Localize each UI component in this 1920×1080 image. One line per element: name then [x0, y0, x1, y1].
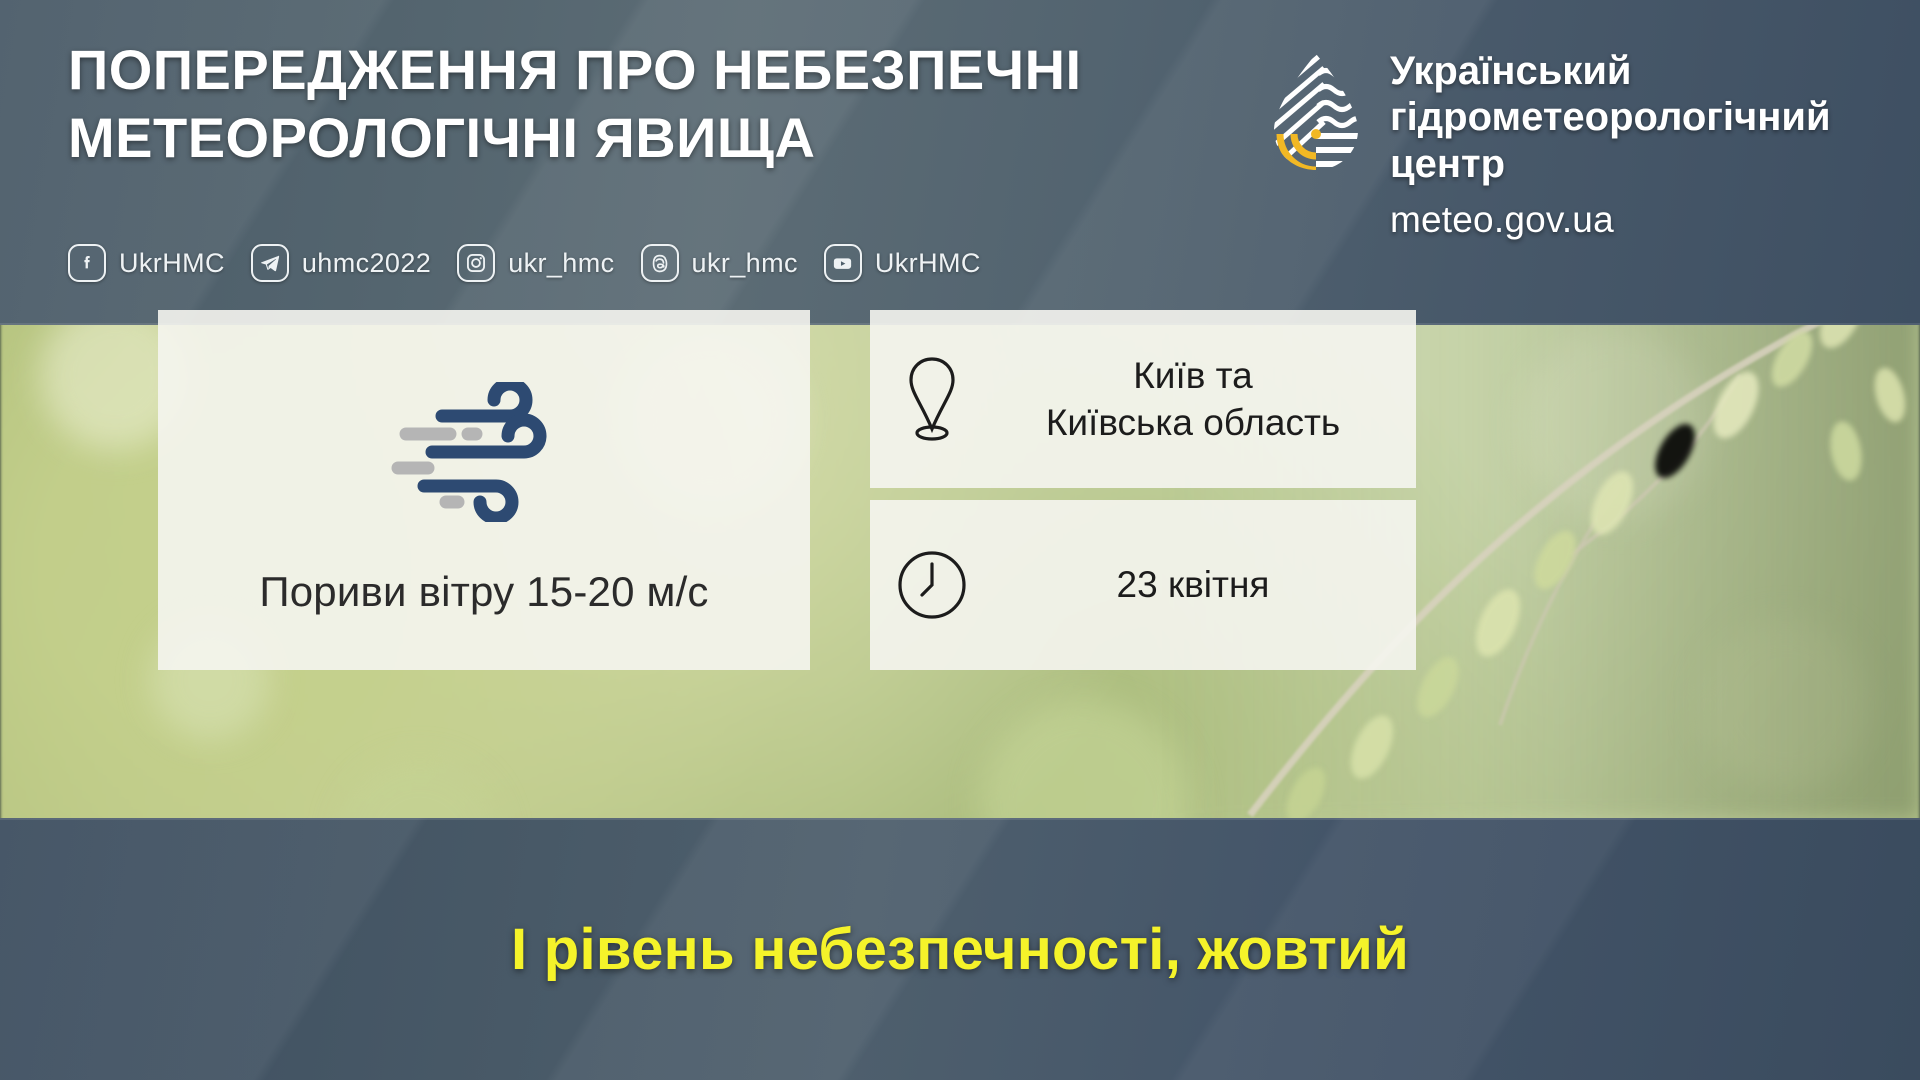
social-link-threads[interactable]: ukr_hmc — [641, 244, 798, 282]
org-name-line1: Український — [1390, 48, 1831, 94]
date-label: 23 квітня — [980, 561, 1416, 608]
youtube-icon — [824, 244, 862, 282]
phenomenon-label: Пориви вітру 15-20 м/с — [259, 568, 708, 616]
organization-logo-block: Український гідрометеорологічний центр m… — [1268, 48, 1831, 241]
footer-bar: I рівень небезпечності, жовтий — [0, 818, 1920, 1080]
facebook-icon — [68, 244, 106, 282]
telegram-icon — [251, 244, 289, 282]
danger-level-label: I рівень небезпечності, жовтий — [511, 916, 1409, 983]
page-title-line1: ПОПЕРЕДЖЕННЯ ПРО НЕБЕЗПЕЧНІ — [68, 36, 1082, 104]
social-handle-youtube: UkrHMC — [875, 248, 981, 279]
org-website-url[interactable]: meteo.gov.ua — [1390, 199, 1831, 241]
region-line1: Київ та — [1133, 355, 1253, 396]
region-card: Київ та Київська область — [870, 310, 1416, 488]
social-handle-telegram: uhmc2022 — [302, 248, 431, 279]
region-line2: Київська область — [1046, 402, 1340, 443]
social-handle-instagram: ukr_hmc — [508, 248, 614, 279]
social-link-instagram[interactable]: ukr_hmc — [457, 244, 614, 282]
wind-icon — [384, 382, 584, 522]
threads-icon — [641, 244, 679, 282]
page-title-line2: МЕТЕОРОЛОГІЧНІ ЯВИЩА — [68, 104, 1082, 172]
org-name-line2: гідрометеорологічний — [1390, 94, 1831, 140]
social-link-facebook[interactable]: UkrHMC — [68, 244, 225, 282]
organization-name-block: Український гідрометеорологічний центр m… — [1390, 48, 1831, 241]
uhmc-droplet-logo-icon — [1268, 52, 1364, 172]
weather-warning-poster: ПОПЕРЕДЖЕННЯ ПРО НЕБЕЗПЕЧНІ МЕТЕОРОЛОГІЧ… — [0, 0, 1920, 1080]
date-card: 23 квітня — [870, 500, 1416, 670]
social-handle-threads: ukr_hmc — [692, 248, 798, 279]
instagram-icon — [457, 244, 495, 282]
social-links: UkrHMC uhmc2022 ukr_hm — [68, 244, 1007, 282]
phenomenon-card: Пориви вітру 15-20 м/с — [158, 310, 810, 670]
social-link-telegram[interactable]: uhmc2022 — [251, 244, 431, 282]
clock-icon — [884, 547, 980, 623]
org-name-line3: центр — [1390, 141, 1831, 187]
region-label: Київ та Київська область — [980, 352, 1416, 447]
map-pin-icon — [884, 351, 980, 447]
header-bar: ПОПЕРЕДЖЕННЯ ПРО НЕБЕЗПЕЧНІ МЕТЕОРОЛОГІЧ… — [0, 0, 1920, 325]
page-title: ПОПЕРЕДЖЕННЯ ПРО НЕБЕЗПЕЧНІ МЕТЕОРОЛОГІЧ… — [68, 36, 1082, 172]
social-handle-facebook: UkrHMC — [119, 248, 225, 279]
social-link-youtube[interactable]: UkrHMC — [824, 244, 981, 282]
